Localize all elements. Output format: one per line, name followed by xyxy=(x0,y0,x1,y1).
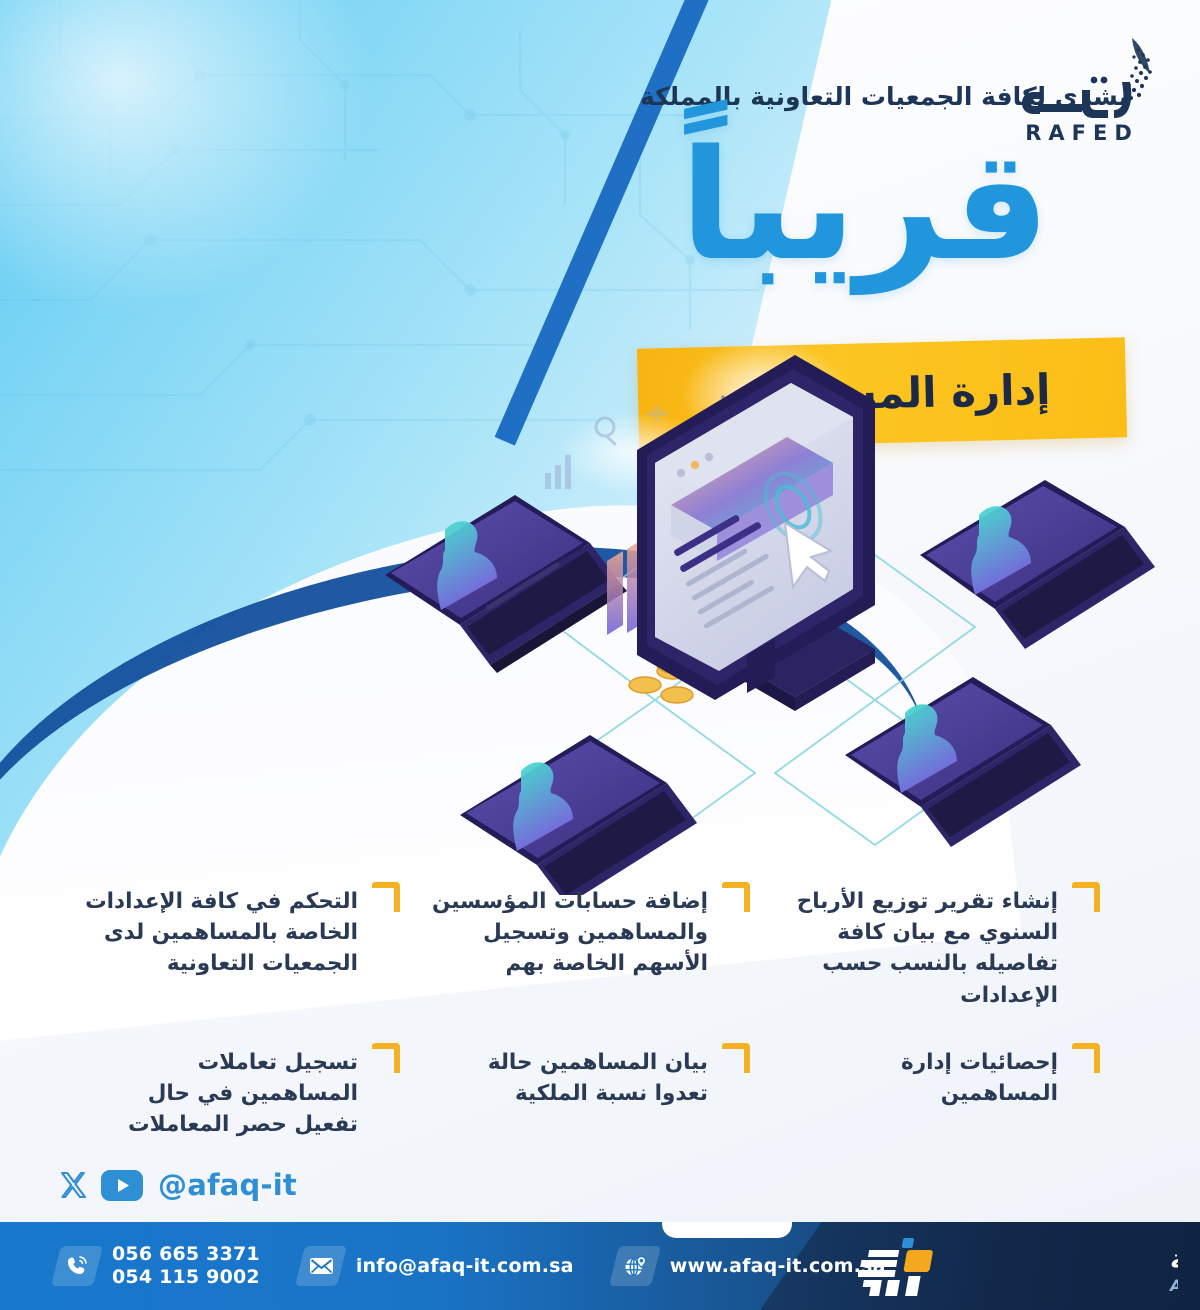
page-title: قريباً xyxy=(680,130,1050,282)
phone-icon xyxy=(51,1246,103,1286)
features-section: التحكم في كافة الإعدادات الخاصة بالمساهم… xyxy=(0,878,1200,1140)
afaq-latin-name: AFAQ INTERNATIONAL xyxy=(1168,1276,1178,1295)
features-row-1: التحكم في كافة الإعدادات الخاصة بالمساهم… xyxy=(0,878,1200,1011)
footer-bar: 056 665 3371 054 115 9002 info@afaq-it.c… xyxy=(0,1222,1200,1310)
footer-phone-2: 054 115 9002 xyxy=(112,1266,260,1289)
rafed-logo: RAFED xyxy=(982,30,1172,148)
footer-email-text: info@afaq-it.com.sa xyxy=(356,1255,574,1278)
poster-canvas: بشرى لكافة الجمعيات التعاونية بالمملكة ق… xyxy=(0,0,1200,1310)
corner-bracket-icon xyxy=(1072,882,1100,912)
corner-bracket-icon xyxy=(722,882,750,912)
feature-text: إنشاء تقرير توزيع الأرباح السنوي مع بيان… xyxy=(780,886,1092,1011)
youtube-icon[interactable] xyxy=(101,1170,143,1201)
feature-item-6: إحصائيات إدارة المساهمين xyxy=(758,1039,1108,1141)
social-handle[interactable]: @afaq-it xyxy=(158,1168,297,1202)
envelope-icon xyxy=(295,1246,347,1286)
feature-text: بيان المساهمين حالة تعدوا نسبة الملكية xyxy=(430,1047,742,1109)
corner-bracket-icon xyxy=(1072,1043,1100,1073)
feature-text: إضافة حسابات المؤسسين والمساهمين وتسجيل … xyxy=(430,886,742,980)
feature-item-3: إنشاء تقرير توزيع الأرباح السنوي مع بيان… xyxy=(758,878,1108,1011)
footer-contact-list: 056 665 3371 054 115 9002 info@afaq-it.c… xyxy=(0,1222,886,1310)
laptop-bottom-right xyxy=(845,677,1081,847)
rafed-latin-wordmark: RAFED xyxy=(1025,121,1139,145)
laptop-bottom-left xyxy=(460,735,697,895)
footer-website[interactable]: www.afaq-it.com.sa xyxy=(614,1246,886,1286)
laptop-top-right xyxy=(920,480,1155,649)
feature-item-2: إضافة حسابات المؤسسين والمساهمين وتسجيل … xyxy=(408,878,758,1011)
footer-phone-1: 056 665 3371 xyxy=(112,1243,260,1266)
laptop-top-left xyxy=(385,495,627,673)
feature-item-5: بيان المساهمين حالة تعدوا نسبة الملكية xyxy=(408,1039,758,1141)
footer-website-text: www.afaq-it.com.sa xyxy=(670,1255,886,1278)
isometric-illustration xyxy=(355,355,1155,895)
feature-text: تسجيل تعاملات المساهمين في حال تفعيل حصر… xyxy=(80,1047,392,1141)
footer-phone[interactable]: 056 665 3371 054 115 9002 xyxy=(56,1243,260,1289)
feature-item-1: التحكم في كافة الإعدادات الخاصة بالمساهم… xyxy=(58,878,408,1011)
rafed-arabic-wordmark xyxy=(1022,77,1131,118)
corner-bracket-icon xyxy=(722,1043,750,1073)
feature-text: إحصائيات إدارة المساهمين xyxy=(780,1047,1092,1109)
features-row-2: تسجيل تعاملات المساهمين في حال تفعيل حصر… xyxy=(0,1039,1200,1141)
corner-bracket-icon xyxy=(372,882,400,912)
footer-email[interactable]: info@afaq-it.com.sa xyxy=(300,1246,574,1286)
feature-text: التحكم في كافة الإعدادات الخاصة بالمساهم… xyxy=(80,886,392,980)
afaq-arabic-name: آفاق العالمية xyxy=(1170,1243,1178,1275)
social-bar: @afaq-it xyxy=(56,1168,297,1202)
corner-bracket-icon xyxy=(372,1043,400,1073)
x-twitter-icon[interactable] xyxy=(56,1168,90,1202)
background-glow xyxy=(0,0,380,320)
feature-item-4: تسجيل تعاملات المساهمين في حال تفعيل حصر… xyxy=(58,1039,408,1141)
afaq-international-logo: آفاق العالمية AFAQ INTERNATIONAL xyxy=(858,1234,1178,1300)
globe-pin-icon xyxy=(609,1246,661,1286)
afaq-mark xyxy=(858,1238,933,1296)
